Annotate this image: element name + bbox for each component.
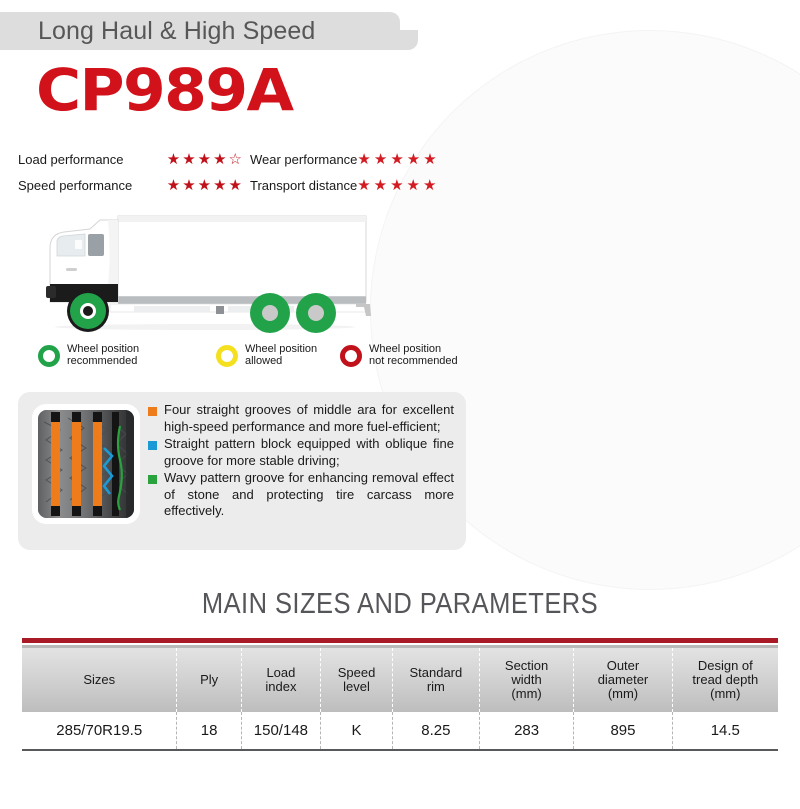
- feature-bullet: Wavy pattern groove for enhancing remova…: [148, 470, 454, 520]
- bullet-square-orange-icon: [148, 407, 157, 416]
- header-line: (mm): [608, 686, 638, 701]
- header-line: rim: [427, 679, 445, 694]
- divider-red: [22, 638, 778, 643]
- tread-pattern-image: [38, 410, 134, 518]
- cell-section-width: 283: [479, 712, 574, 750]
- feature-text: Wavy pattern groove for enhancing remova…: [164, 470, 454, 520]
- legend-line-1: Wheel position: [245, 343, 317, 355]
- cell-outer-diameter: 895: [574, 712, 672, 750]
- specs-header-row: Sizes Ply Load index Speed level Standar: [22, 648, 778, 712]
- features-bullet-list: Four straight grooves of middle ara for …: [140, 392, 466, 550]
- rating-label: Speed performance: [18, 178, 132, 193]
- legend-label: Wheel position not recommended: [369, 344, 458, 367]
- circle-green-icon: [38, 345, 60, 367]
- model-name: CP989A: [36, 56, 293, 124]
- rating-stars: ★★★★★: [167, 178, 250, 193]
- header-banner: Long Haul & High Speed: [0, 12, 418, 50]
- header-line: index: [265, 679, 296, 694]
- header-line: diameter: [598, 672, 649, 687]
- circle-red-icon: [340, 345, 362, 367]
- legend-line-2: recommended: [67, 355, 137, 367]
- rating-speed-performance: Speed performance ★★★★★: [18, 174, 250, 196]
- rating-transport-distance: Transport distance ★★★★★: [250, 174, 445, 196]
- truck-icon: [30, 200, 380, 340]
- column-header-speed-level: Speed level: [321, 648, 393, 712]
- banner-title: Long Haul & High Speed: [38, 12, 315, 50]
- cell-standard-rim: 8.25: [392, 712, 479, 750]
- rating-stars: ★★★★★: [357, 178, 445, 193]
- legend-label: Wheel position allowed: [245, 344, 317, 367]
- tread-pattern-icon: [38, 410, 134, 518]
- column-header-standard-rim: Standard rim: [392, 648, 479, 712]
- rating-row: Speed performance ★★★★★ Transport distan…: [18, 174, 478, 196]
- header-line: width: [511, 672, 541, 687]
- legend-line-1: Wheel position: [369, 343, 441, 355]
- wheel-position-legend: Wheel position recommended Wheel positio…: [38, 344, 468, 367]
- rating-load-performance: Load performance ★★★★☆: [18, 148, 250, 170]
- column-header-ply: Ply: [177, 648, 241, 712]
- header-line: Sizes: [83, 672, 115, 687]
- cell-tread-depth: 14.5: [672, 712, 778, 750]
- legend-line-2: allowed: [245, 355, 282, 367]
- rating-stars: ★★★★☆: [167, 152, 250, 167]
- feature-bullet: Straight pattern block equipped with obl…: [148, 436, 454, 469]
- truck-illustration: [30, 200, 380, 340]
- column-header-load-index: Load index: [241, 648, 320, 712]
- cell-ply: 18: [177, 712, 241, 750]
- rating-label: Load performance: [18, 152, 124, 167]
- legend-item-allowed: Wheel position allowed: [216, 344, 340, 367]
- table-row: 285/70R19.5 18 150/148 K 8.25 283 895 14…: [22, 712, 778, 750]
- header-line: level: [343, 679, 370, 694]
- header-line: tread depth: [692, 672, 758, 687]
- column-header-section-width: Section width (mm): [479, 648, 574, 712]
- header-line: Section: [505, 658, 548, 673]
- legend-label: Wheel position recommended: [67, 344, 139, 367]
- legend-item-not-recommended: Wheel position not recommended: [340, 344, 458, 367]
- banner-step-corner: [398, 30, 418, 50]
- specs-section-title: MAIN SIZES AND PARAMETERS: [48, 588, 752, 621]
- header-line: Standard: [409, 665, 462, 680]
- header-line: Ply: [200, 672, 218, 687]
- feature-bullet: Four straight grooves of middle ara for …: [148, 402, 454, 435]
- cell-load-index: 150/148: [241, 712, 320, 750]
- column-header-outer-diameter: Outer diameter (mm): [574, 648, 672, 712]
- header-line: Design of: [698, 658, 753, 673]
- legend-line-2: not recommended: [369, 355, 458, 367]
- header-line: (mm): [710, 686, 740, 701]
- legend-line-1: Wheel position: [67, 343, 139, 355]
- rating-label: Wear performance: [250, 152, 357, 167]
- rating-row: Load performance ★★★★☆ Wear performance …: [18, 148, 478, 170]
- rating-label: Transport distance: [250, 178, 357, 193]
- header-line: Load: [266, 665, 295, 680]
- feature-text: Straight pattern block equipped with obl…: [164, 436, 454, 469]
- rating-wear-performance: Wear performance ★★★★★: [250, 148, 446, 170]
- rating-stars: ★★★★★: [357, 152, 445, 167]
- specs-table: Sizes Ply Load index Speed level Standar: [22, 648, 778, 751]
- cell-sizes: 285/70R19.5: [22, 712, 177, 750]
- circle-yellow-icon: [216, 345, 238, 367]
- header-line: (mm): [511, 686, 541, 701]
- feature-text: Four straight grooves of middle ara for …: [164, 402, 454, 435]
- bullet-square-green-icon: [148, 475, 157, 484]
- specs-table-container: Sizes Ply Load index Speed level Standar: [22, 638, 778, 751]
- column-header-sizes: Sizes: [22, 648, 177, 712]
- features-panel: Four straight grooves of middle ara for …: [18, 392, 466, 550]
- cell-speed-level: K: [321, 712, 393, 750]
- header-line: Speed: [338, 665, 376, 680]
- bullet-square-blue-icon: [148, 441, 157, 450]
- ratings-block: Load performance ★★★★☆ Wear performance …: [18, 148, 478, 200]
- tread-pattern-frame: [32, 404, 140, 524]
- column-header-tread-depth: Design of tread depth (mm): [672, 648, 778, 712]
- legend-item-recommended: Wheel position recommended: [38, 344, 216, 367]
- header-line: Outer: [607, 658, 640, 673]
